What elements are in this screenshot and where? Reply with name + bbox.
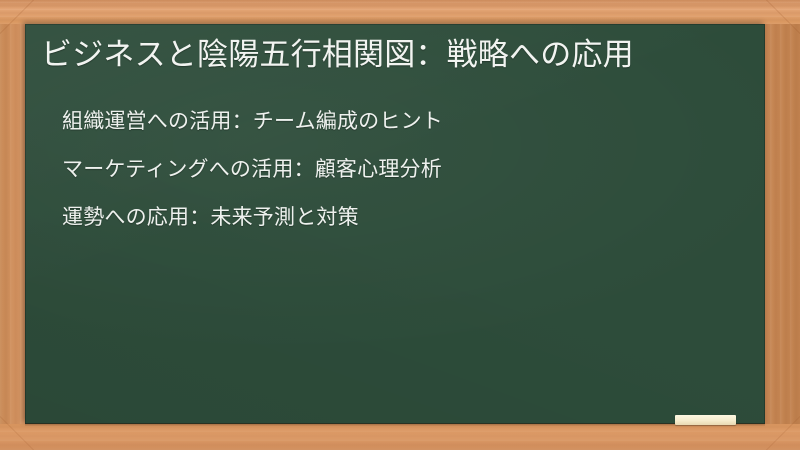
chalkboard-surface: ビジネスと陰陽五行相関図：戦略への応用 組織運営への活用：チーム編成のヒント マ…: [25, 24, 765, 424]
list-item: 運勢への応用：未来予測と対策: [62, 205, 739, 231]
list-item: 組織運営への活用：チーム編成のヒント: [62, 109, 739, 135]
slide-title: ビジネスと陰陽五行相関図：戦略への応用: [33, 34, 739, 76]
slide-content: ビジネスと陰陽五行相関図：戦略への応用 組織運営への活用：チーム編成のヒント マ…: [25, 24, 765, 424]
chalkboard-slide: ビジネスと陰陽五行相関図：戦略への応用 組織運営への活用：チーム編成のヒント マ…: [0, 0, 800, 450]
wooden-frame-top-rail: [0, 0, 800, 24]
chalk-stick-icon: [675, 415, 736, 425]
bullet-list: 組織運営への活用：チーム編成のヒント マーケティングへの活用：顧客心理分析 運勢…: [33, 109, 739, 231]
wooden-frame-bottom-rail: [0, 424, 800, 450]
list-item: マーケティングへの活用：顧客心理分析: [62, 157, 739, 183]
board-ledge-shadow: [25, 423, 765, 426]
